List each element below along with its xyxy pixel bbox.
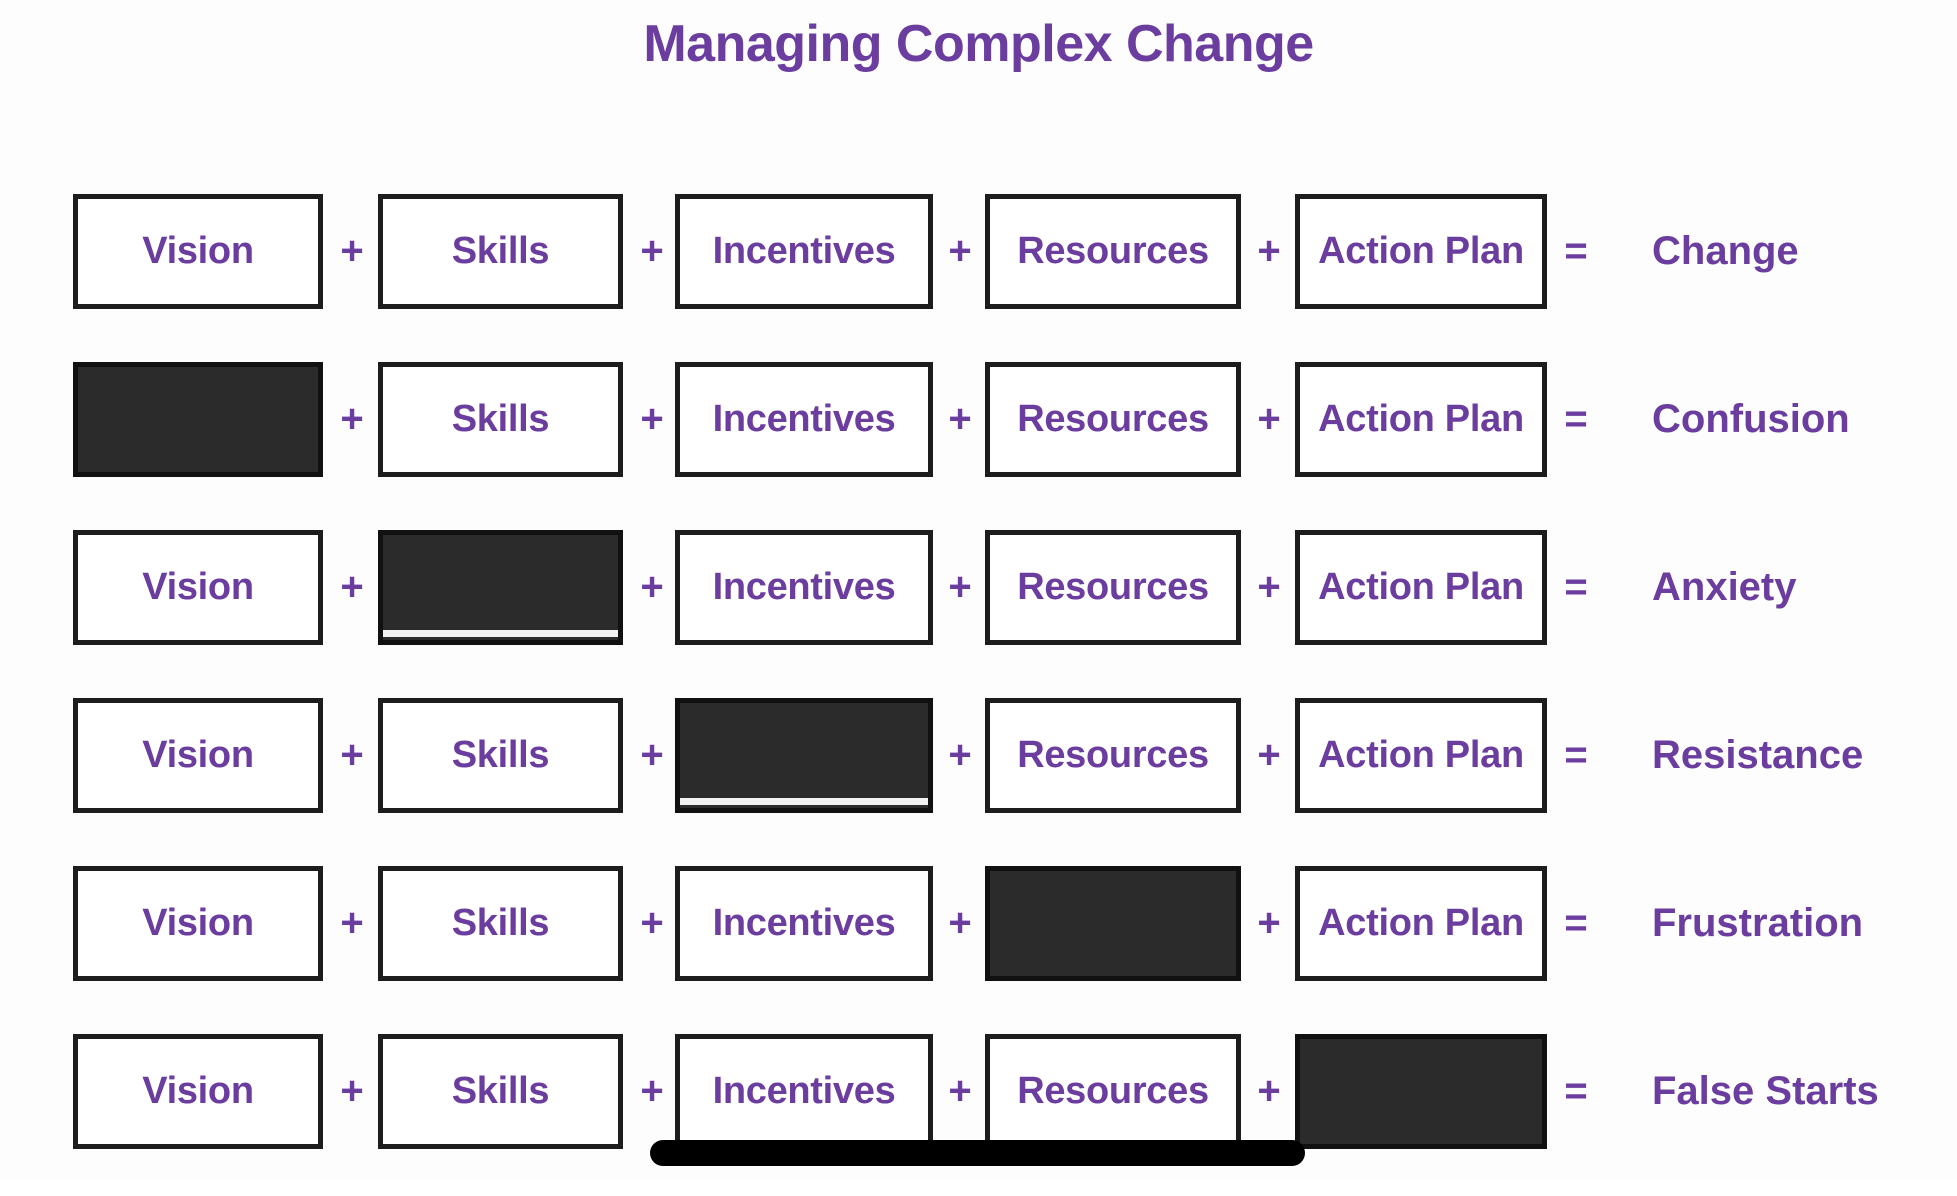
equals-operator-icon: = — [1553, 866, 1599, 981]
factor-label: Resources — [1017, 398, 1209, 441]
factor-label: Action Plan — [1318, 230, 1524, 273]
outcome-label: False Starts — [1652, 1034, 1879, 1149]
factor-label: Vision — [142, 230, 254, 273]
factor-box-skills[interactable]: Skills — [378, 866, 623, 981]
factor-label: Skills — [452, 902, 550, 945]
redacted-box-vision[interactable]: Vision — [73, 362, 323, 477]
equals-operator-icon: = — [1553, 194, 1599, 309]
plus-operator-icon: + — [329, 362, 375, 477]
factor-label: Resources — [1017, 566, 1209, 609]
factor-label: Incentives — [713, 902, 896, 945]
plus-operator-icon: + — [1246, 1034, 1292, 1149]
factor-label: Incentives — [713, 1070, 896, 1113]
factor-box-action-plan[interactable]: Action Plan — [1295, 530, 1547, 645]
factor-box-incentives[interactable]: Incentives — [675, 194, 933, 309]
page-title: Managing Complex Change — [0, 14, 1957, 74]
factor-box-action-plan[interactable]: Action Plan — [1295, 866, 1547, 981]
outcome-label: Anxiety — [1652, 530, 1797, 645]
plus-operator-icon: + — [629, 530, 675, 645]
plus-operator-icon: + — [1246, 194, 1292, 309]
equation-row: Vision+Skills+Incentives+Resources+Actio… — [0, 356, 1957, 524]
factor-box-vision[interactable]: Vision — [73, 194, 323, 309]
factor-box-resources[interactable]: Resources — [985, 530, 1241, 645]
plus-operator-icon: + — [1246, 698, 1292, 813]
factor-label: Skills — [452, 230, 550, 273]
equation-grid: Vision+Skills+Incentives+Resources+Actio… — [0, 188, 1957, 1196]
factor-box-vision[interactable]: Vision — [73, 698, 323, 813]
factor-label: Resources — [1017, 230, 1209, 273]
plus-operator-icon: + — [329, 698, 375, 813]
factor-box-skills[interactable]: Skills — [378, 362, 623, 477]
equals-operator-icon: = — [1553, 1034, 1599, 1149]
factor-box-vision[interactable]: Vision — [73, 1034, 323, 1149]
factor-label: Action Plan — [1318, 398, 1524, 441]
plus-operator-icon: + — [937, 1034, 983, 1149]
factor-label: Vision — [142, 734, 254, 777]
plus-operator-icon: + — [1246, 530, 1292, 645]
factor-box-skills[interactable]: Skills — [378, 194, 623, 309]
factor-label: Incentives — [713, 566, 896, 609]
plus-operator-icon: + — [937, 698, 983, 813]
plus-operator-icon: + — [329, 530, 375, 645]
plus-operator-icon: + — [629, 362, 675, 477]
factor-box-incentives[interactable]: Incentives — [675, 362, 933, 477]
plus-operator-icon: + — [629, 194, 675, 309]
equation-row: Vision+Skills+Incentives+Resources+Actio… — [0, 860, 1957, 1028]
plus-operator-icon: + — [329, 866, 375, 981]
equation-row: Vision+Skills+Incentives+Resources+Actio… — [0, 524, 1957, 692]
factor-label: Skills — [452, 734, 550, 777]
outcome-label: Confusion — [1652, 362, 1850, 477]
equation-row: Vision+Skills+Incentives+Resources+Actio… — [0, 692, 1957, 860]
factor-label: Incentives — [713, 398, 896, 441]
redacted-box-incentives[interactable]: Incentives — [675, 698, 933, 813]
factor-label: Skills — [452, 1070, 550, 1113]
factor-box-resources[interactable]: Resources — [985, 698, 1241, 813]
factor-box-resources[interactable]: Resources — [985, 194, 1241, 309]
plus-operator-icon: + — [1246, 866, 1292, 981]
equation-row: Vision+Skills+Incentives+Resources+Actio… — [0, 188, 1957, 356]
factor-box-incentives[interactable]: Incentives — [675, 866, 933, 981]
factor-box-action-plan[interactable]: Action Plan — [1295, 362, 1547, 477]
marker-stroke-bar — [650, 1140, 1305, 1166]
factor-box-incentives[interactable]: Incentives — [675, 530, 933, 645]
factor-label: Vision — [142, 902, 254, 945]
plus-operator-icon: + — [1246, 362, 1292, 477]
redacted-box-action-plan[interactable]: Action Plan — [1295, 1034, 1547, 1149]
factor-box-resources[interactable]: Resources — [985, 1034, 1241, 1149]
factor-label: Action Plan — [1318, 902, 1524, 945]
factor-box-vision[interactable]: Vision — [73, 530, 323, 645]
factor-box-skills[interactable]: Skills — [378, 1034, 623, 1149]
redacted-box-skills[interactable]: Skills — [378, 530, 623, 645]
equals-operator-icon: = — [1553, 530, 1599, 645]
plus-operator-icon: + — [937, 866, 983, 981]
equals-operator-icon: = — [1553, 362, 1599, 477]
factor-box-resources[interactable]: Resources — [985, 362, 1241, 477]
factor-label: Skills — [452, 398, 550, 441]
outcome-label: Frustration — [1652, 866, 1863, 981]
factor-box-incentives[interactable]: Incentives — [675, 1034, 933, 1149]
factor-label: Resources — [1017, 734, 1209, 777]
plus-operator-icon: + — [629, 866, 675, 981]
factor-label: Vision — [142, 566, 254, 609]
equation-row: Vision+Skills+Incentives+Resources+Actio… — [0, 1028, 1957, 1196]
diagram-canvas: Managing Complex Change Vision+Skills+In… — [0, 0, 1957, 1179]
plus-operator-icon: + — [629, 698, 675, 813]
equals-operator-icon: = — [1553, 698, 1599, 813]
factor-label: Resources — [1017, 1070, 1209, 1113]
factor-box-skills[interactable]: Skills — [378, 698, 623, 813]
factor-label: Vision — [142, 1070, 254, 1113]
redacted-box-resources[interactable]: Resources — [985, 866, 1241, 981]
outcome-label: Resistance — [1652, 698, 1863, 813]
plus-operator-icon: + — [937, 362, 983, 477]
plus-operator-icon: + — [937, 530, 983, 645]
factor-label: Action Plan — [1318, 566, 1524, 609]
factor-box-action-plan[interactable]: Action Plan — [1295, 698, 1547, 813]
plus-operator-icon: + — [329, 1034, 375, 1149]
plus-operator-icon: + — [937, 194, 983, 309]
factor-label: Incentives — [713, 230, 896, 273]
plus-operator-icon: + — [329, 194, 375, 309]
factor-label: Action Plan — [1318, 734, 1524, 777]
factor-box-action-plan[interactable]: Action Plan — [1295, 194, 1547, 309]
outcome-label: Change — [1652, 194, 1799, 309]
plus-operator-icon: + — [629, 1034, 675, 1149]
factor-box-vision[interactable]: Vision — [73, 866, 323, 981]
